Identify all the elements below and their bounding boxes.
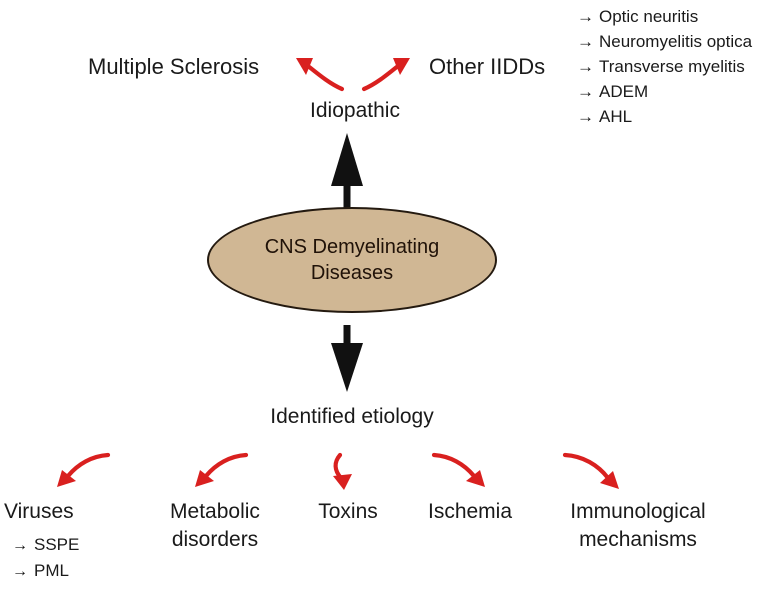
cause-line2: mechanisms <box>548 526 728 554</box>
label-other-iidds: Other IIDDs <box>429 54 545 80</box>
list-item: → PML <box>12 558 79 584</box>
arrow-right-icon: → <box>577 104 599 129</box>
iidd-item-label: Neuromyelitis optica <box>599 29 752 54</box>
list-item: → Optic neuritis <box>577 4 781 29</box>
red-arrow-to-multiple-sclerosis-icon <box>296 58 342 89</box>
arrow-right-icon: → <box>577 29 599 54</box>
list-item: → AHL <box>577 104 781 129</box>
cause-line1: Immunological <box>548 498 728 526</box>
red-arrow-to-other-iidds-icon <box>364 58 410 89</box>
black-arrow-down-icon <box>331 325 363 392</box>
list-item: → SSPE <box>12 532 79 558</box>
central-node-line2: Diseases <box>311 260 393 286</box>
arrow-right-icon: → <box>577 4 599 29</box>
cause-line2: disorders <box>150 526 280 554</box>
arrow-right-icon: → <box>12 559 34 585</box>
iidd-item-label: Transverse myelitis <box>599 54 745 79</box>
central-node-line1: CNS Demyelinating <box>265 234 440 260</box>
cause-line1: Metabolic <box>150 498 280 526</box>
cause-line1: Toxins <box>296 498 400 526</box>
virus-item-label: SSPE <box>34 532 79 558</box>
central-node-cns-demyelinating-diseases: CNS Demyelinating Diseases <box>207 207 497 313</box>
list-item: → ADEM <box>577 79 781 104</box>
virus-sublist: → SSPE → PML <box>12 532 79 584</box>
arrow-right-icon: → <box>12 533 34 559</box>
iidd-item-label: AHL <box>599 104 632 129</box>
red-arrow-to-viruses-icon <box>57 455 108 487</box>
black-arrow-up-icon <box>331 133 363 215</box>
label-cause-toxins: Toxins <box>296 498 400 526</box>
iidd-list: → Optic neuritis → Neuromyelitis optica … <box>577 4 781 129</box>
red-arrow-to-ischemia-icon <box>434 455 485 487</box>
list-item: → Transverse myelitis <box>577 54 781 79</box>
list-item: → Neuromyelitis optica <box>577 29 781 54</box>
virus-item-label: PML <box>34 558 69 584</box>
label-identified-etiology: Identified etiology <box>270 405 433 429</box>
arrow-right-icon: → <box>577 54 599 79</box>
label-cause-viruses: Viruses <box>4 498 114 526</box>
label-multiple-sclerosis: Multiple Sclerosis <box>88 54 259 80</box>
iidd-item-label: ADEM <box>599 79 648 104</box>
cause-line1: Ischemia <box>410 498 530 526</box>
red-arrow-to-metabolic-icon <box>195 455 246 487</box>
label-idiopathic: Idiopathic <box>310 99 400 123</box>
label-cause-metabolic-disorders: Metabolic disorders <box>150 498 280 553</box>
arrow-right-icon: → <box>577 79 599 104</box>
iidd-item-label: Optic neuritis <box>599 4 698 29</box>
diagram-canvas: Multiple Sclerosis Other IIDDs Idiopathi… <box>0 0 781 589</box>
cause-line1: Viruses <box>4 498 114 526</box>
label-cause-ischemia: Ischemia <box>410 498 530 526</box>
red-arrow-to-toxins-icon <box>333 455 352 490</box>
red-arrow-to-immunological-icon <box>565 455 619 489</box>
label-cause-immunological-mechanisms: Immunological mechanisms <box>548 498 728 553</box>
